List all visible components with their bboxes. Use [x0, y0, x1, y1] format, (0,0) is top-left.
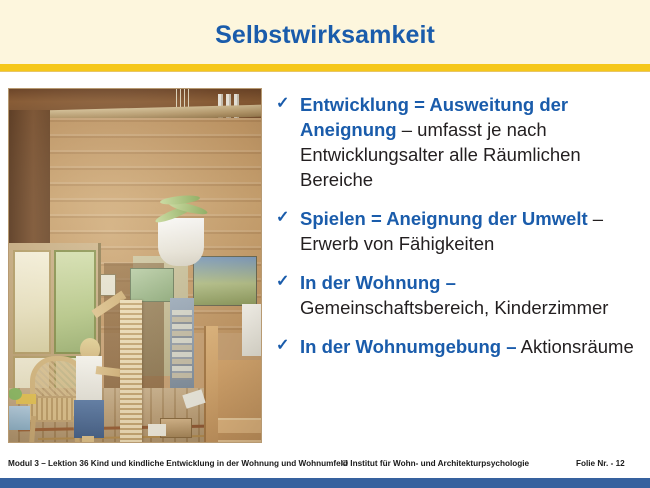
slide: Selbstwirksamkeit — [0, 0, 650, 488]
footer-slide-number: Folie Nr. - 12 — [576, 459, 625, 468]
check-icon: ✓ — [276, 205, 289, 230]
bullet-list: ✓ Entwicklung = Ausweitung der Aneignung… — [276, 92, 642, 373]
page-title: Selbstwirksamkeit — [0, 21, 650, 50]
slide-footer: Modul 3 – Lektion 36 Kind und kindliche … — [0, 455, 650, 475]
list-item-lead: In der Wohnung – — [300, 272, 456, 293]
check-icon: ✓ — [276, 269, 289, 294]
check-icon: ✓ — [276, 333, 289, 358]
list-item: ✓ In der Wohnung – Gemeinschaftsbereich,… — [276, 270, 642, 320]
footer-copyright: © Institut für Wohn- und Architekturpsyc… — [342, 459, 529, 468]
list-item-lead: Spielen = Aneignung der Umwelt — [300, 208, 588, 229]
list-item-rest: Gemeinschaftsbereich, Kinderzimmer — [300, 297, 608, 318]
list-item-rest: Aktionsräume — [517, 336, 634, 357]
check-icon: ✓ — [276, 91, 289, 116]
list-item-lead: In der Wohnumgebung – — [300, 336, 517, 357]
footer-module-label: Modul 3 – Lektion 36 Kind und kindliche … — [8, 459, 348, 468]
title-divider-rule — [0, 64, 650, 71]
slide-photo — [8, 88, 262, 443]
list-item: ✓ In der Wohnumgebung – Aktionsräume — [276, 334, 642, 359]
list-item: ✓ Spielen = Aneignung der Umwelt – Erwer… — [276, 206, 642, 256]
bottom-accent-bar — [0, 478, 650, 488]
photo-border — [8, 88, 262, 443]
title-divider-shade — [0, 71, 650, 72]
list-item: ✓ Entwicklung = Ausweitung der Aneignung… — [276, 92, 642, 192]
